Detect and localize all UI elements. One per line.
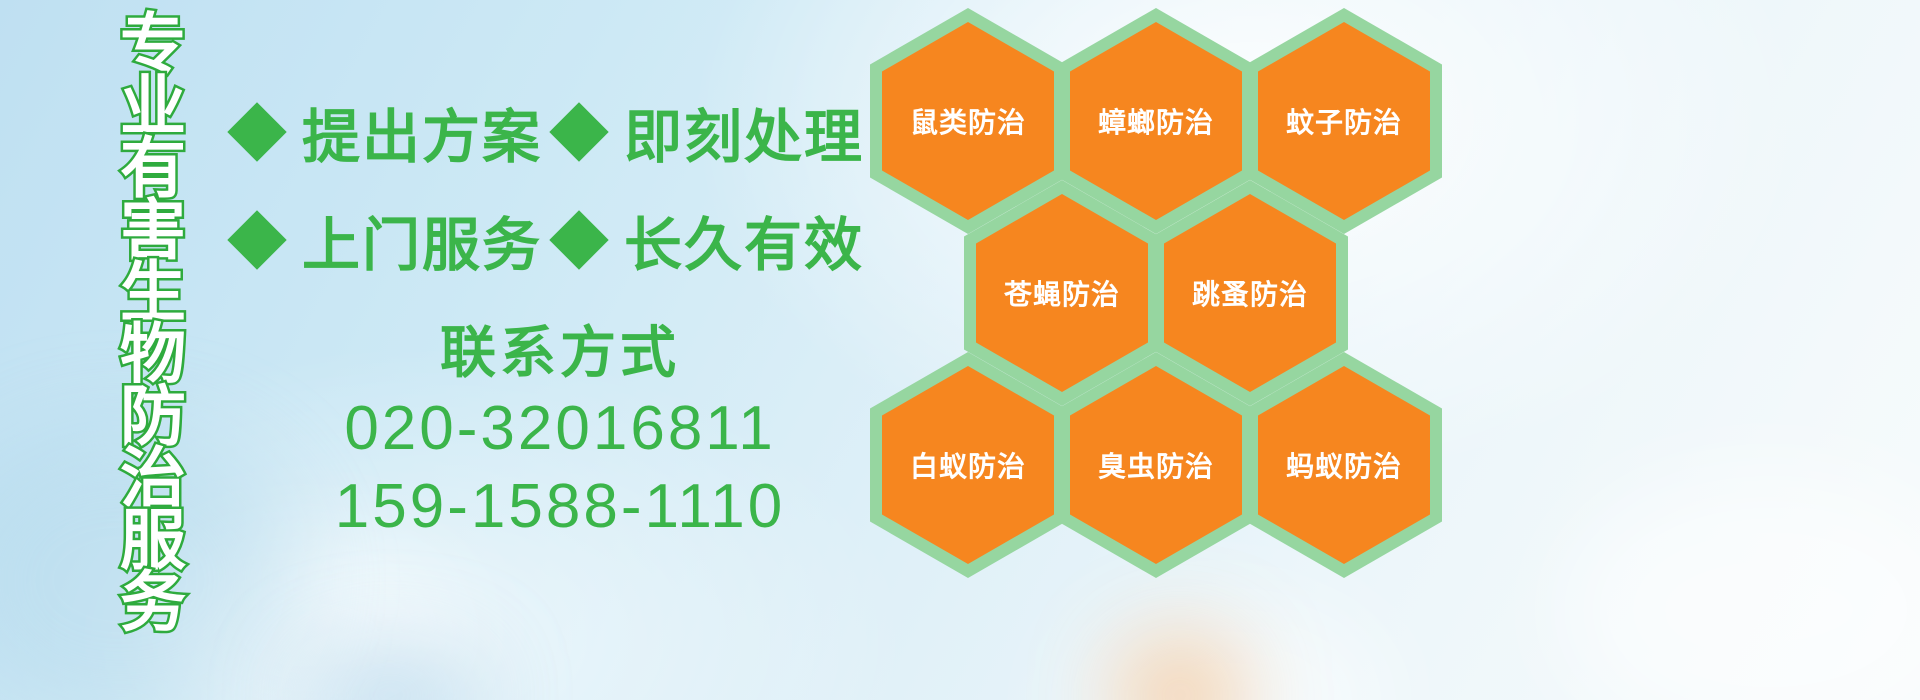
- service-label: 白蚁防治: [910, 445, 1026, 485]
- hexagon-inner: 蚂蚁防治: [1258, 366, 1430, 564]
- feature-row: 提出方案 即刻处理: [236, 78, 876, 186]
- contact-phone-mobile[interactable]: 159-1588-1110: [240, 468, 880, 546]
- feature-row: 上门服务 长久有效: [236, 186, 876, 294]
- service-label: 臭虫防治: [1098, 445, 1214, 485]
- diamond-bullet-icon: [549, 210, 608, 269]
- contact-title: 联系方式: [240, 318, 880, 390]
- vertical-title-char: 物: [120, 324, 186, 386]
- pest-control-banner: 专 业 有 害 生 物 防 治 服 务 提出方案 即刻处理 上门服务: [0, 0, 1920, 700]
- diamond-bullet-icon: [227, 102, 286, 161]
- vertical-title-char: 专: [120, 14, 186, 76]
- vertical-title-char: 服: [120, 510, 186, 572]
- vertical-title-char: 业: [120, 76, 186, 138]
- vertical-title-char: 治: [120, 448, 186, 510]
- feature-label: 提出方案: [302, 90, 542, 174]
- feature-item: 即刻处理: [558, 90, 864, 174]
- service-hex-termite[interactable]: 白蚁防治: [870, 352, 1066, 578]
- contact-phone-landline[interactable]: 020-32016811: [240, 390, 880, 468]
- vertical-title-char: 生: [120, 262, 186, 324]
- service-hex-bedbug[interactable]: 臭虫防治: [1058, 352, 1254, 578]
- background-blob: [300, 650, 480, 700]
- vertical-title-char: 有: [120, 138, 186, 200]
- vertical-title-char: 害: [120, 200, 186, 262]
- hexagon-shape: 臭虫防治: [1058, 352, 1254, 578]
- service-hex-ant[interactable]: 蚂蚁防治: [1246, 352, 1442, 578]
- service-label: 蟑螂防治: [1098, 101, 1214, 141]
- service-label: 蚊子防治: [1286, 101, 1402, 141]
- hexagon-inner: 臭虫防治: [1070, 366, 1242, 564]
- hexagon-inner: 白蚁防治: [882, 366, 1054, 564]
- background-blob: [1060, 600, 1390, 700]
- vertical-title-char: 防: [120, 386, 186, 448]
- background-blob: [1560, 470, 1920, 700]
- feature-item: 长久有效: [558, 198, 864, 282]
- contact-block: 联系方式 020-32016811 159-1588-1110: [240, 318, 880, 546]
- feature-label: 上门服务: [302, 198, 542, 282]
- service-label: 鼠类防治: [910, 101, 1026, 141]
- service-label: 跳蚤防治: [1192, 273, 1308, 313]
- feature-label: 长久有效: [624, 198, 864, 282]
- vertical-title-char: 务: [120, 572, 186, 634]
- vertical-title: 专 业 有 害 生 物 防 治 服 务: [107, 14, 199, 574]
- feature-label: 即刻处理: [624, 90, 864, 174]
- background-blob: [1120, 640, 1240, 700]
- hexagon-shape: 白蚁防治: [870, 352, 1066, 578]
- service-label: 苍蝇防治: [1004, 273, 1120, 313]
- diamond-bullet-icon: [549, 102, 608, 161]
- feature-item: 上门服务: [236, 198, 558, 282]
- feature-list: 提出方案 即刻处理 上门服务 长久有效: [236, 78, 876, 294]
- diamond-bullet-icon: [227, 210, 286, 269]
- feature-item: 提出方案: [236, 90, 558, 174]
- service-honeycomb: 鼠类防治 蟑螂防治 蚊子防治 苍蝇防治: [860, 0, 1480, 580]
- service-label: 蚂蚁防治: [1286, 445, 1402, 485]
- hexagon-shape: 蚂蚁防治: [1246, 352, 1442, 578]
